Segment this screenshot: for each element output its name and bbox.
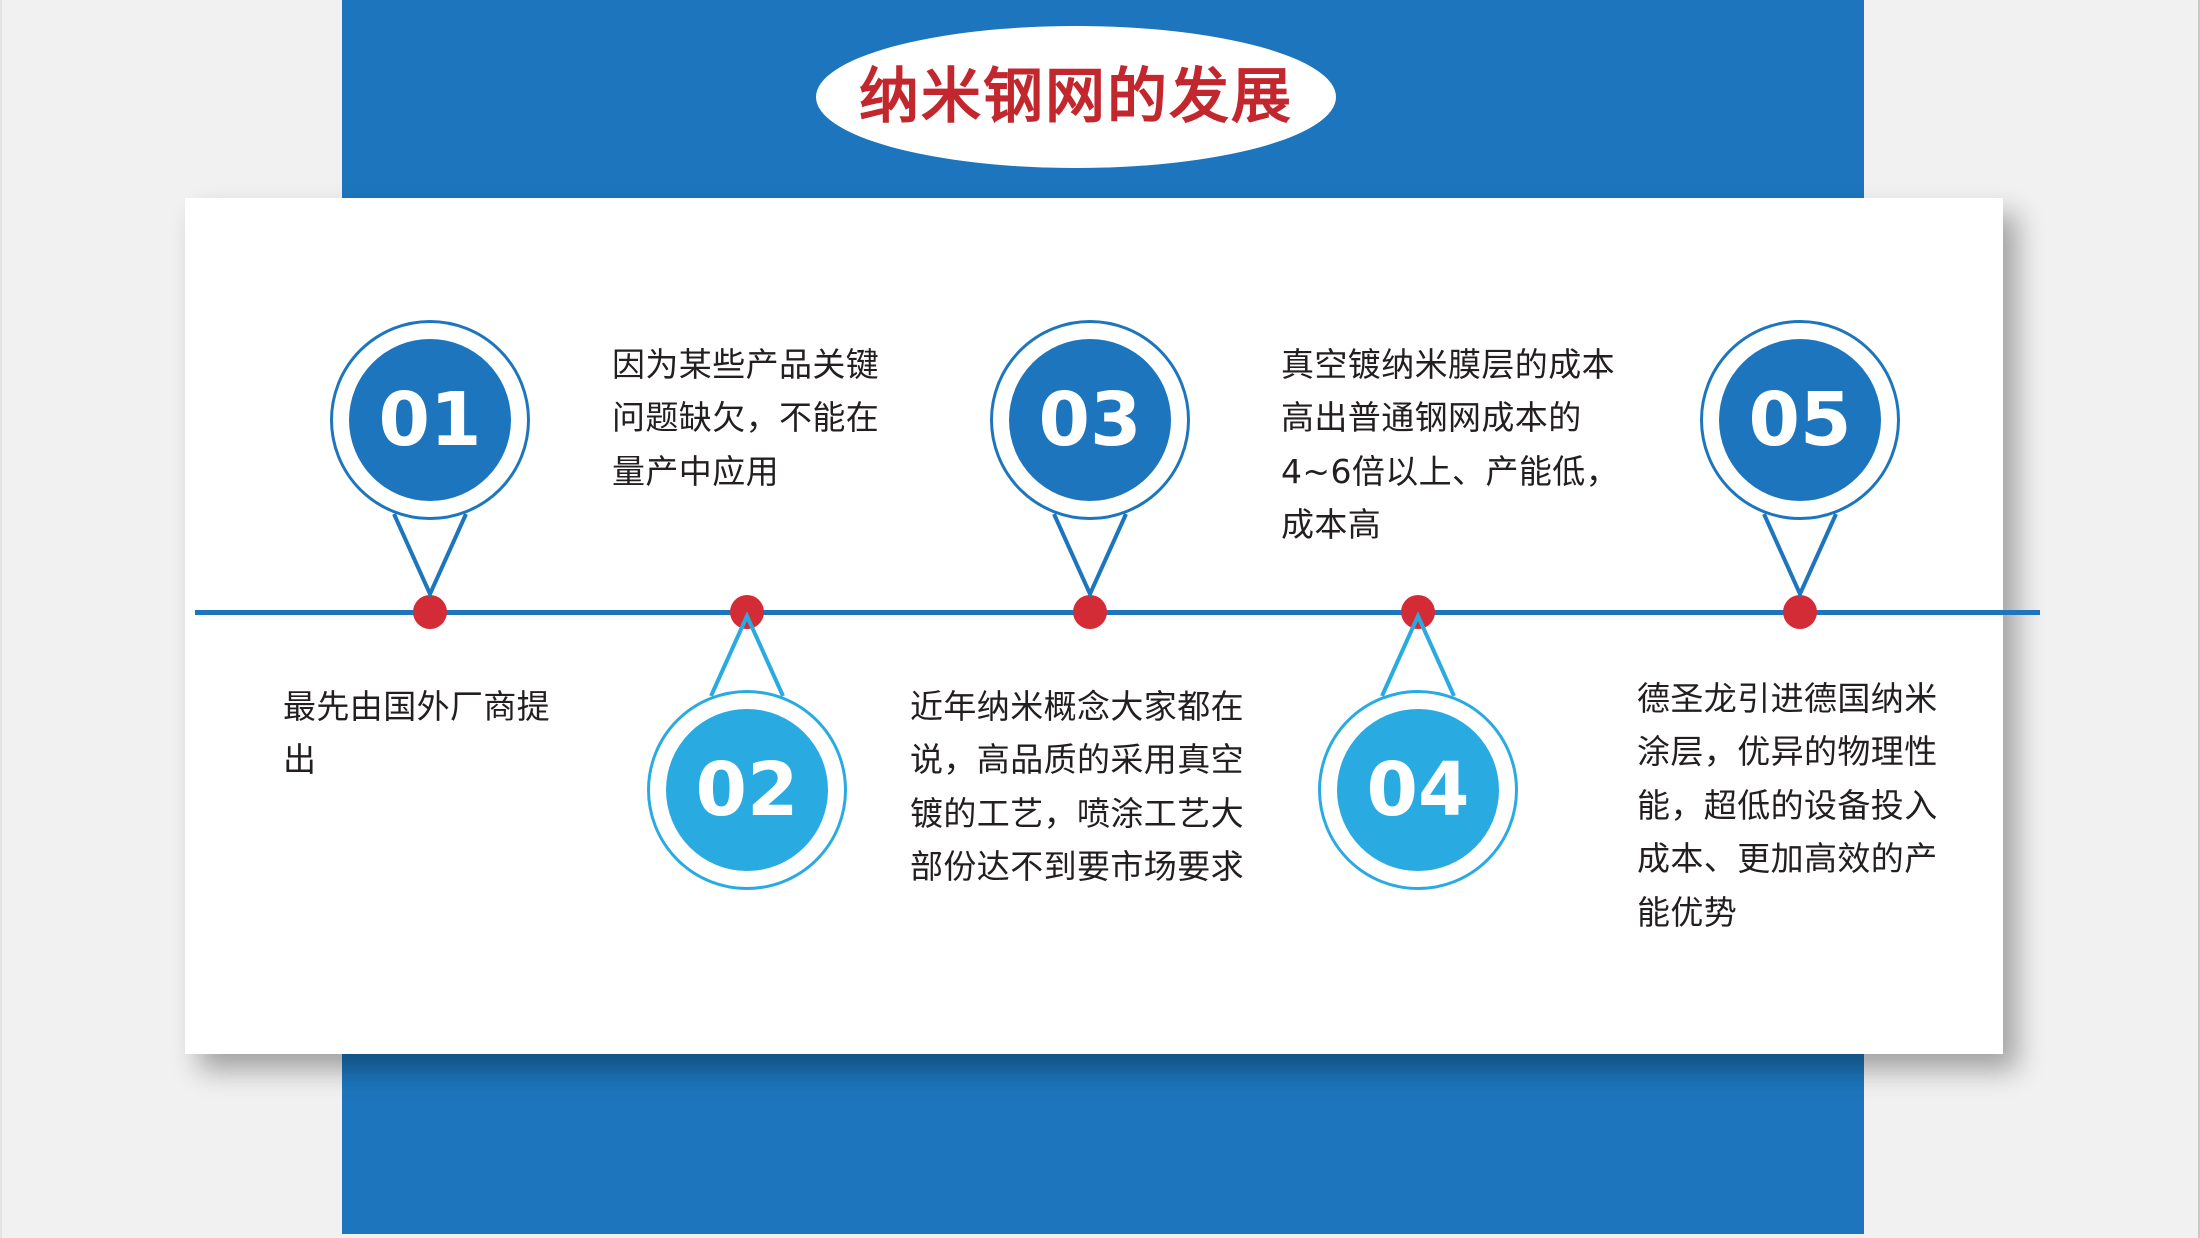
timeline-dot-03[interactable] bbox=[1073, 595, 1107, 629]
timeline-text-02: 因为某些产品关键问题缺欠，不能在量产中应用 bbox=[612, 338, 912, 498]
node-number-label: 04 bbox=[1367, 753, 1470, 827]
node-pointer-icon bbox=[1044, 512, 1136, 598]
node-inner-disc: 03 bbox=[1009, 339, 1171, 501]
timeline-node-04[interactable]: 04 bbox=[1318, 690, 1518, 890]
timeline-node-01[interactable]: 01 bbox=[330, 320, 530, 520]
node-pointer-icon bbox=[1372, 612, 1464, 698]
node-number-label: 02 bbox=[696, 753, 799, 827]
timeline-dot-05[interactable] bbox=[1783, 595, 1817, 629]
timeline-dot-01[interactable] bbox=[413, 595, 447, 629]
timeline-node-05[interactable]: 05 bbox=[1700, 320, 1900, 520]
page-title: 纳米钢网的发展 bbox=[859, 67, 1293, 127]
node-pointer-icon bbox=[701, 612, 793, 698]
slide-canvas: 纳米钢网的发展 01 02 03 bbox=[0, 0, 2200, 1238]
timeline-node-03[interactable]: 03 bbox=[990, 320, 1190, 520]
page-edge-left bbox=[0, 0, 2, 1238]
node-number-label: 05 bbox=[1749, 383, 1852, 457]
node-pointer-icon bbox=[1754, 512, 1846, 598]
timeline-text-03: 近年纳米概念大家都在说，高品质的采用真空镀的工艺，喷涂工艺大部份达不到要市场要求 bbox=[910, 680, 1265, 894]
node-number-label: 01 bbox=[379, 383, 482, 457]
timeline-axis bbox=[195, 610, 2040, 615]
timeline-node-02[interactable]: 02 bbox=[647, 690, 847, 890]
timeline-text-01: 最先由国外厂商提出 bbox=[283, 680, 583, 787]
node-inner-disc: 05 bbox=[1719, 339, 1881, 501]
node-inner-disc: 04 bbox=[1337, 709, 1499, 871]
node-pointer-icon bbox=[384, 512, 476, 598]
node-inner-disc: 02 bbox=[666, 709, 828, 871]
timeline-text-05: 德圣龙引进德国纳米涂层，优异的物理性能，超低的设备投入成本、更加高效的产能优势 bbox=[1637, 672, 1962, 939]
node-inner-disc: 01 bbox=[349, 339, 511, 501]
node-number-label: 03 bbox=[1039, 383, 1142, 457]
title-ellipse: 纳米钢网的发展 bbox=[816, 26, 1336, 168]
timeline-text-04: 真空镀纳米膜层的成本高出普通钢网成本的4~6倍以上、产能低，成本高 bbox=[1281, 338, 1636, 552]
